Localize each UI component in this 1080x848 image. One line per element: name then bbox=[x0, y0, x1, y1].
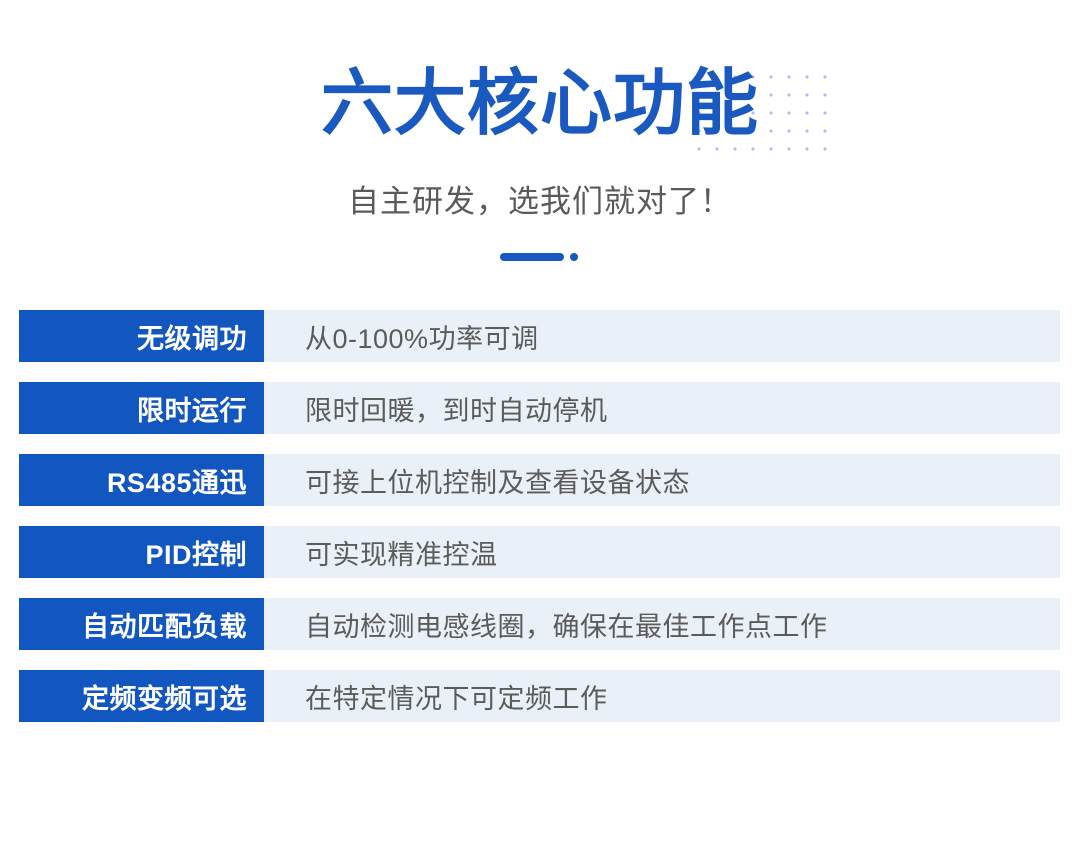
feature-tag: RS485通迅 bbox=[19, 454, 264, 506]
page-header: 六大核心功能 自主研发，选我们就对了！ bbox=[0, 0, 1080, 300]
feature-tag: 无级调功 bbox=[19, 310, 264, 362]
list-item: 限时运行 限时回暖，到时自动停机 bbox=[0, 382, 1080, 434]
list-item: 定频变频可选 在特定情况下可定频工作 bbox=[0, 670, 1080, 722]
feature-description: 自动检测电感线圈，确保在最佳工作点工作 bbox=[305, 598, 828, 650]
feature-description: 限时回暖，到时自动停机 bbox=[305, 382, 608, 434]
list-item: RS485通迅 可接上位机控制及查看设备状态 bbox=[0, 454, 1080, 506]
list-item: 自动匹配负载 自动检测电感线圈，确保在最佳工作点工作 bbox=[0, 598, 1080, 650]
feature-description: 可接上位机控制及查看设备状态 bbox=[305, 454, 690, 506]
feature-description: 从0-100%功率可调 bbox=[305, 310, 539, 362]
page-subtitle: 自主研发，选我们就对了！ bbox=[0, 180, 1080, 224]
feature-description: 在特定情况下可定频工作 bbox=[305, 670, 608, 722]
feature-tag: PID控制 bbox=[19, 526, 264, 578]
divider-bar-icon bbox=[500, 253, 564, 261]
promo-page: 六大核心功能 自主研发，选我们就对了！ 无级调功 从0-100%功率可调 限时运… bbox=[0, 0, 1080, 848]
feature-list: 无级调功 从0-100%功率可调 限时运行 限时回暖，到时自动停机 RS485通… bbox=[0, 310, 1080, 742]
feature-tag: 自动匹配负载 bbox=[19, 598, 264, 650]
feature-tag: 定频变频可选 bbox=[19, 670, 264, 722]
list-item: 无级调功 从0-100%功率可调 bbox=[0, 310, 1080, 362]
divider bbox=[0, 252, 1080, 262]
page-title: 六大核心功能 bbox=[0, 62, 1080, 146]
list-item: PID控制 可实现精准控温 bbox=[0, 526, 1080, 578]
feature-tag: 限时运行 bbox=[19, 382, 264, 434]
divider-dot-icon bbox=[570, 253, 578, 261]
feature-description: 可实现精准控温 bbox=[305, 526, 498, 578]
